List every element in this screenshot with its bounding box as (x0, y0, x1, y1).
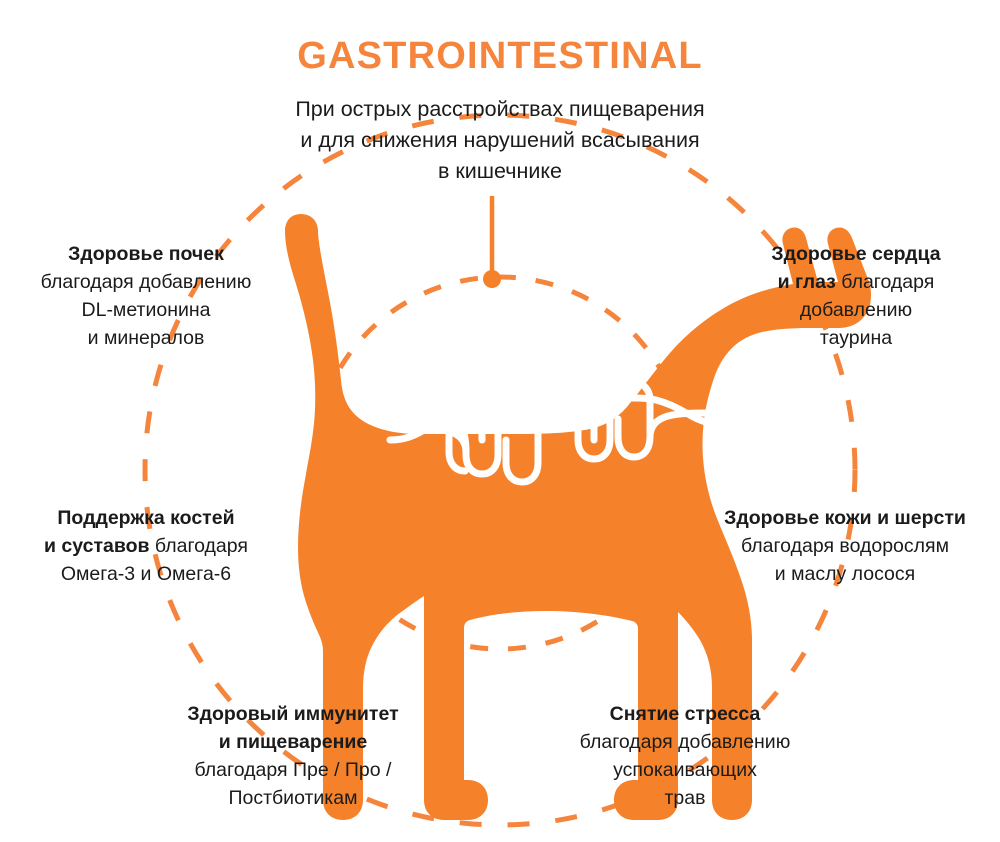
callout-immunity-heading: Здоровый иммунитет и пищеварение (187, 703, 398, 753)
callout-skin-body: благодаря водорослям и маслу лосося (741, 535, 949, 585)
pointer-dot-icon (483, 270, 501, 288)
callout-skin-coat-health: Здоровье кожи и шерсти благодаря водорос… (690, 504, 1000, 588)
callout-stress-heading: Снятие стресса (610, 703, 761, 725)
callout-stress-relief: Снятие стресса благодаря добавлению успо… (520, 700, 850, 812)
callout-heart-eye-health: Здоровье сердца и глаз благодаря добавле… (712, 240, 1000, 352)
callout-skin-heading: Здоровье кожи и шерсти (724, 507, 966, 529)
callout-stress-body: благодаря добавлению успокаивающих трав (580, 731, 791, 809)
callout-immunity-body: благодаря Пре / Про / Постбиотикам (195, 759, 392, 809)
callout-kidney-heading: Здоровье почек (68, 243, 224, 265)
page-subtitle: При острых расстройствах пищеварения и д… (230, 94, 770, 187)
infographic-stage: GASTROINTESTINAL При острых расстройства… (0, 0, 1000, 842)
callout-kidney-health: Здоровье почек благодаря добавлению DL-м… (2, 240, 290, 352)
page-title: GASTROINTESTINAL (0, 36, 1000, 78)
callout-kidney-body: благодаря добавлению DL-метионина и мине… (41, 271, 252, 349)
callout-immunity-digestion: Здоровый иммунитет и пищеварение благода… (128, 700, 458, 812)
callout-bone-joint-support: Поддержка костей и суставов благодаря Ом… (2, 504, 290, 588)
